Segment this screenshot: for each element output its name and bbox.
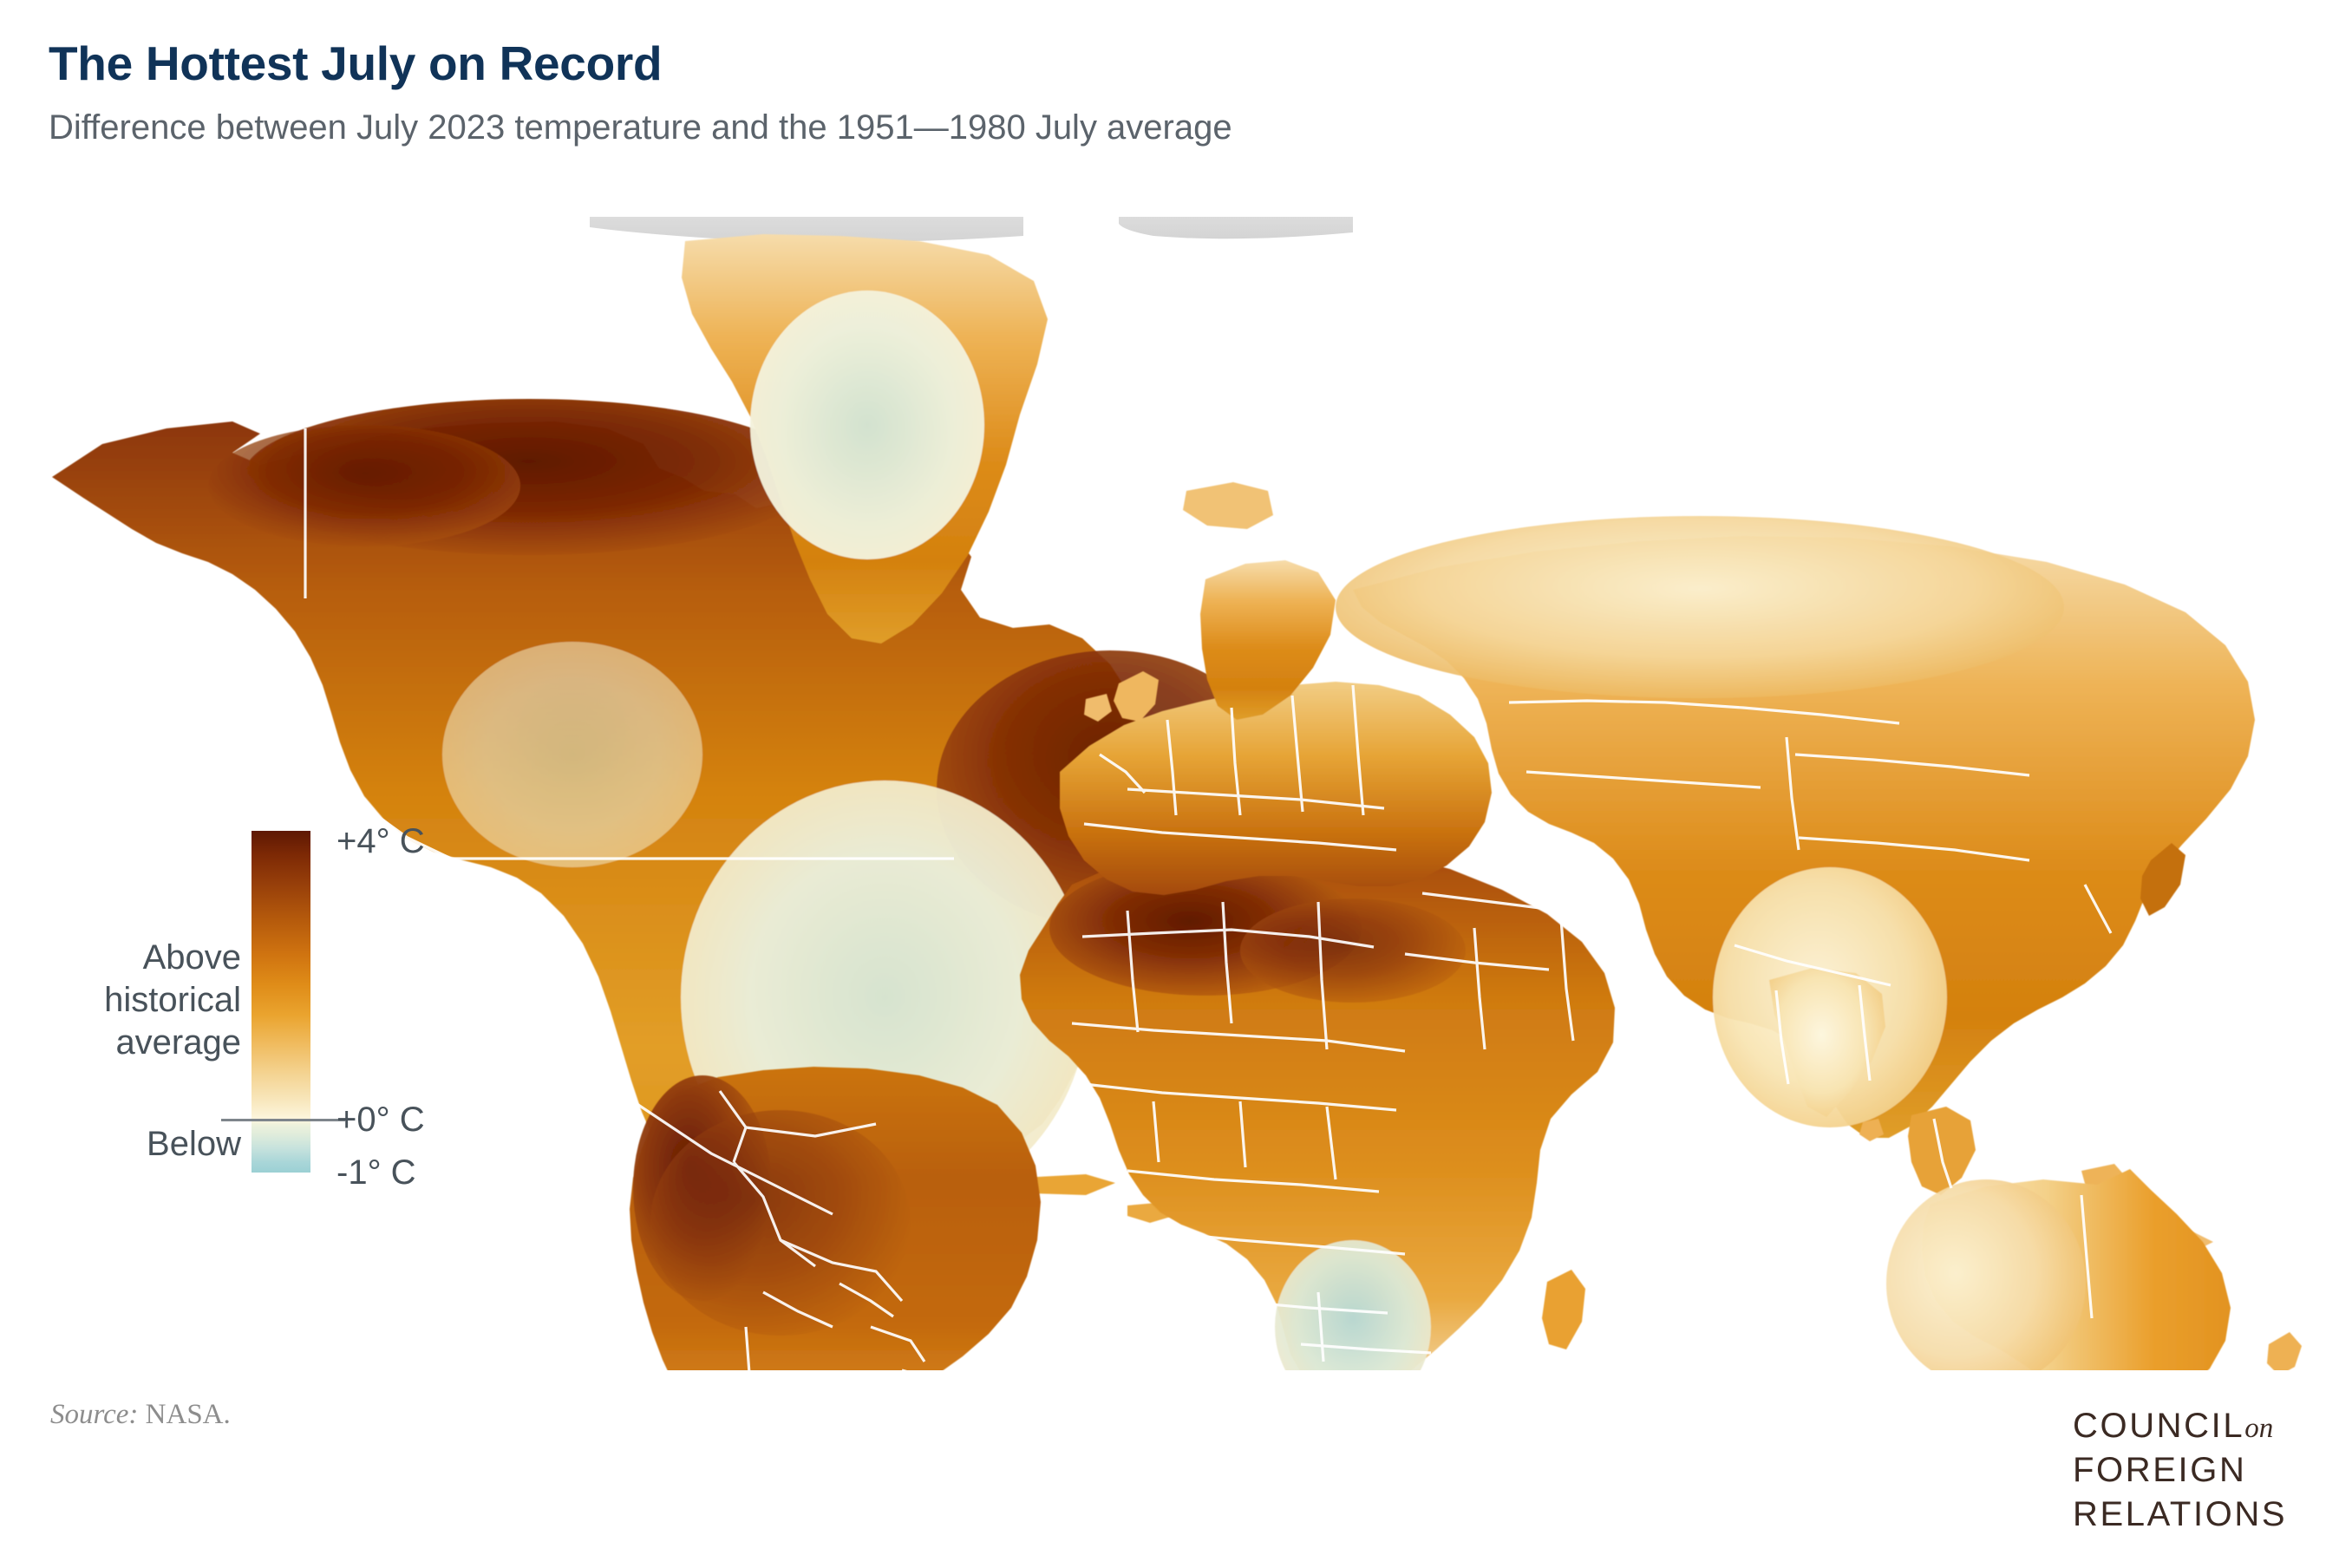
anomaly-palespot-siberia [1336,516,2064,698]
iceland-landmass [1183,482,1273,529]
legend-above-line-3: average [87,1022,241,1064]
cfr-logo-council: COUNCIL [2073,1407,2244,1445]
anomaly-hotspot-egypt [1240,898,1466,1003]
colorbar-tick-label-zero: +0° C [336,1102,425,1137]
cfr-logo-on: on [2244,1413,2273,1444]
chart-header: The Hottest July on Record Difference be… [49,40,1232,145]
colorbar-tick-label-max: +4° C [336,824,425,859]
cfr-logo-line-2: FOREIGN [2073,1448,2324,1493]
cfr-logo: COUNCILon FOREIGN RELATIONS [2073,1404,2324,1536]
legend-above-caption: Above historical average [87,937,241,1063]
legend-above-line-1: Above [87,937,241,979]
legend-below-caption: Below [87,1123,241,1166]
cfr-logo-line-1: COUNCILon [2073,1404,2324,1448]
madagascar-landmass [1542,1270,1585,1349]
colorbar-legend: Above historical average Below +4° C +0°… [87,815,572,1188]
anomaly-coolspot-greenland [750,291,984,559]
arctic-nodata-strip-2 [1119,217,1353,238]
cfr-logo-line-3: RELATIONS [2073,1493,2324,1537]
legend-above-line-2: historical [87,979,241,1022]
source-value: NASA. [146,1399,231,1430]
page-title: The Hottest July on Record [49,40,1232,88]
oceania-region [1886,1169,2302,1370]
source-label: Source: [50,1399,138,1430]
world-anomaly-map [0,217,2352,1370]
anomaly-hotspot-nwt [208,425,520,546]
colorbar-tick-label-min: -1° C [336,1155,416,1190]
source-note: Source: NASA. [50,1399,231,1431]
south-america-region [630,1067,1041,1370]
page-subtitle: Difference between July 2023 temperature… [49,110,1232,145]
colorbar-zero-tick-line [221,1119,345,1121]
polar-nodata-layer [590,217,1353,242]
new-zealand-north-landmass [2267,1332,2302,1370]
map-canvas [0,217,2352,1370]
